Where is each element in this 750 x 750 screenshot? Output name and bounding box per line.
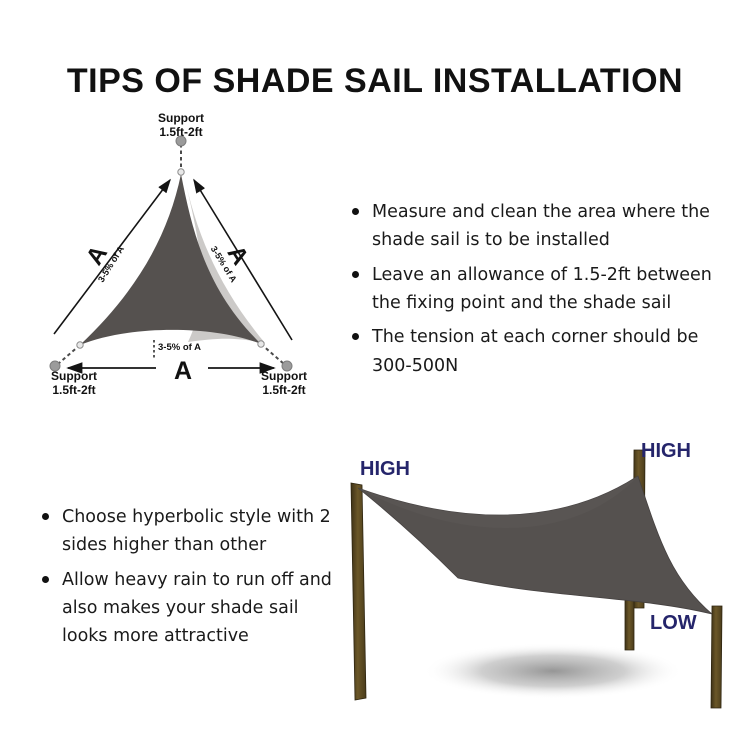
bottom-left-support-title: Support	[14, 370, 134, 384]
bottom-right-support-label: Support 1.5ft-2ft	[224, 370, 344, 398]
list-item: Leave an allowance of 1.5-2ft between th…	[352, 261, 724, 318]
bottom-curve-percent-label: 3-5% of A	[158, 342, 238, 353]
low-label-right: LOW	[650, 612, 697, 635]
high-label-right: HIGH	[641, 440, 691, 463]
bottom-span-label: A	[158, 357, 208, 386]
ground-shadow	[423, 643, 683, 699]
bullet-icon	[42, 513, 49, 520]
list-item: Allow heavy rain to run off and also mak…	[42, 566, 342, 651]
list-item-label: Leave an allowance of 1.5-2ft between th…	[372, 265, 712, 313]
post-back-left	[351, 483, 366, 700]
infographic-page: TIPS OF SHADE SAIL INSTALLATION	[0, 0, 750, 750]
installation-tips-list: Measure and clean the area where the sha…	[352, 198, 724, 386]
bottom-right-support-distance: 1.5ft-2ft	[224, 384, 344, 398]
top-support-label: Support 1.5ft-2ft	[106, 112, 256, 140]
top-sail-corner-ring	[178, 169, 184, 175]
bottom-left-support-distance: 1.5ft-2ft	[14, 384, 134, 398]
bullet-icon	[42, 576, 49, 583]
bullet-icon	[352, 208, 359, 215]
list-item-label: Measure and clean the area where the sha…	[372, 202, 710, 250]
list-item: Choose hyperbolic style with 2 sides hig…	[42, 503, 342, 560]
bullet-icon	[352, 271, 359, 278]
list-item: The tension at each corner should be 300…	[352, 323, 724, 380]
list-item-label: Choose hyperbolic style with 2 sides hig…	[62, 507, 331, 555]
page-title: TIPS OF SHADE SAIL INSTALLATION	[0, 62, 750, 101]
bottom-right-support-dashed-line	[261, 344, 284, 364]
list-item-label: Allow heavy rain to run off and also mak…	[62, 570, 332, 647]
bottom-left-support-dashed-line	[58, 345, 80, 364]
hyperbolic-sail-body	[358, 476, 712, 614]
bottom-right-support-title: Support	[224, 370, 344, 384]
high-label-left: HIGH	[360, 458, 410, 481]
bottom-right-sail-corner-ring	[258, 341, 264, 347]
post-middle	[625, 600, 634, 650]
bottom-left-sail-corner-ring	[77, 342, 83, 348]
bottom-left-support-label: Support 1.5ft-2ft	[14, 370, 134, 398]
list-item: Measure and clean the area where the sha…	[352, 198, 724, 255]
triangle-shade-sail-diagram: Support 1.5ft-2ft Support 1.5ft-2ft Supp…	[18, 112, 348, 412]
hyperbolic-style-tips-list: Choose hyperbolic style with 2 sides hig…	[42, 503, 342, 657]
top-support-distance: 1.5ft-2ft	[106, 126, 256, 140]
post-front-right	[711, 606, 722, 708]
bullet-icon	[352, 333, 359, 340]
list-item-label: The tension at each corner should be 300…	[372, 327, 698, 375]
hyperbolic-sail-diagram: HIGH HIGH LOW	[338, 428, 750, 730]
top-support-title: Support	[106, 112, 256, 126]
